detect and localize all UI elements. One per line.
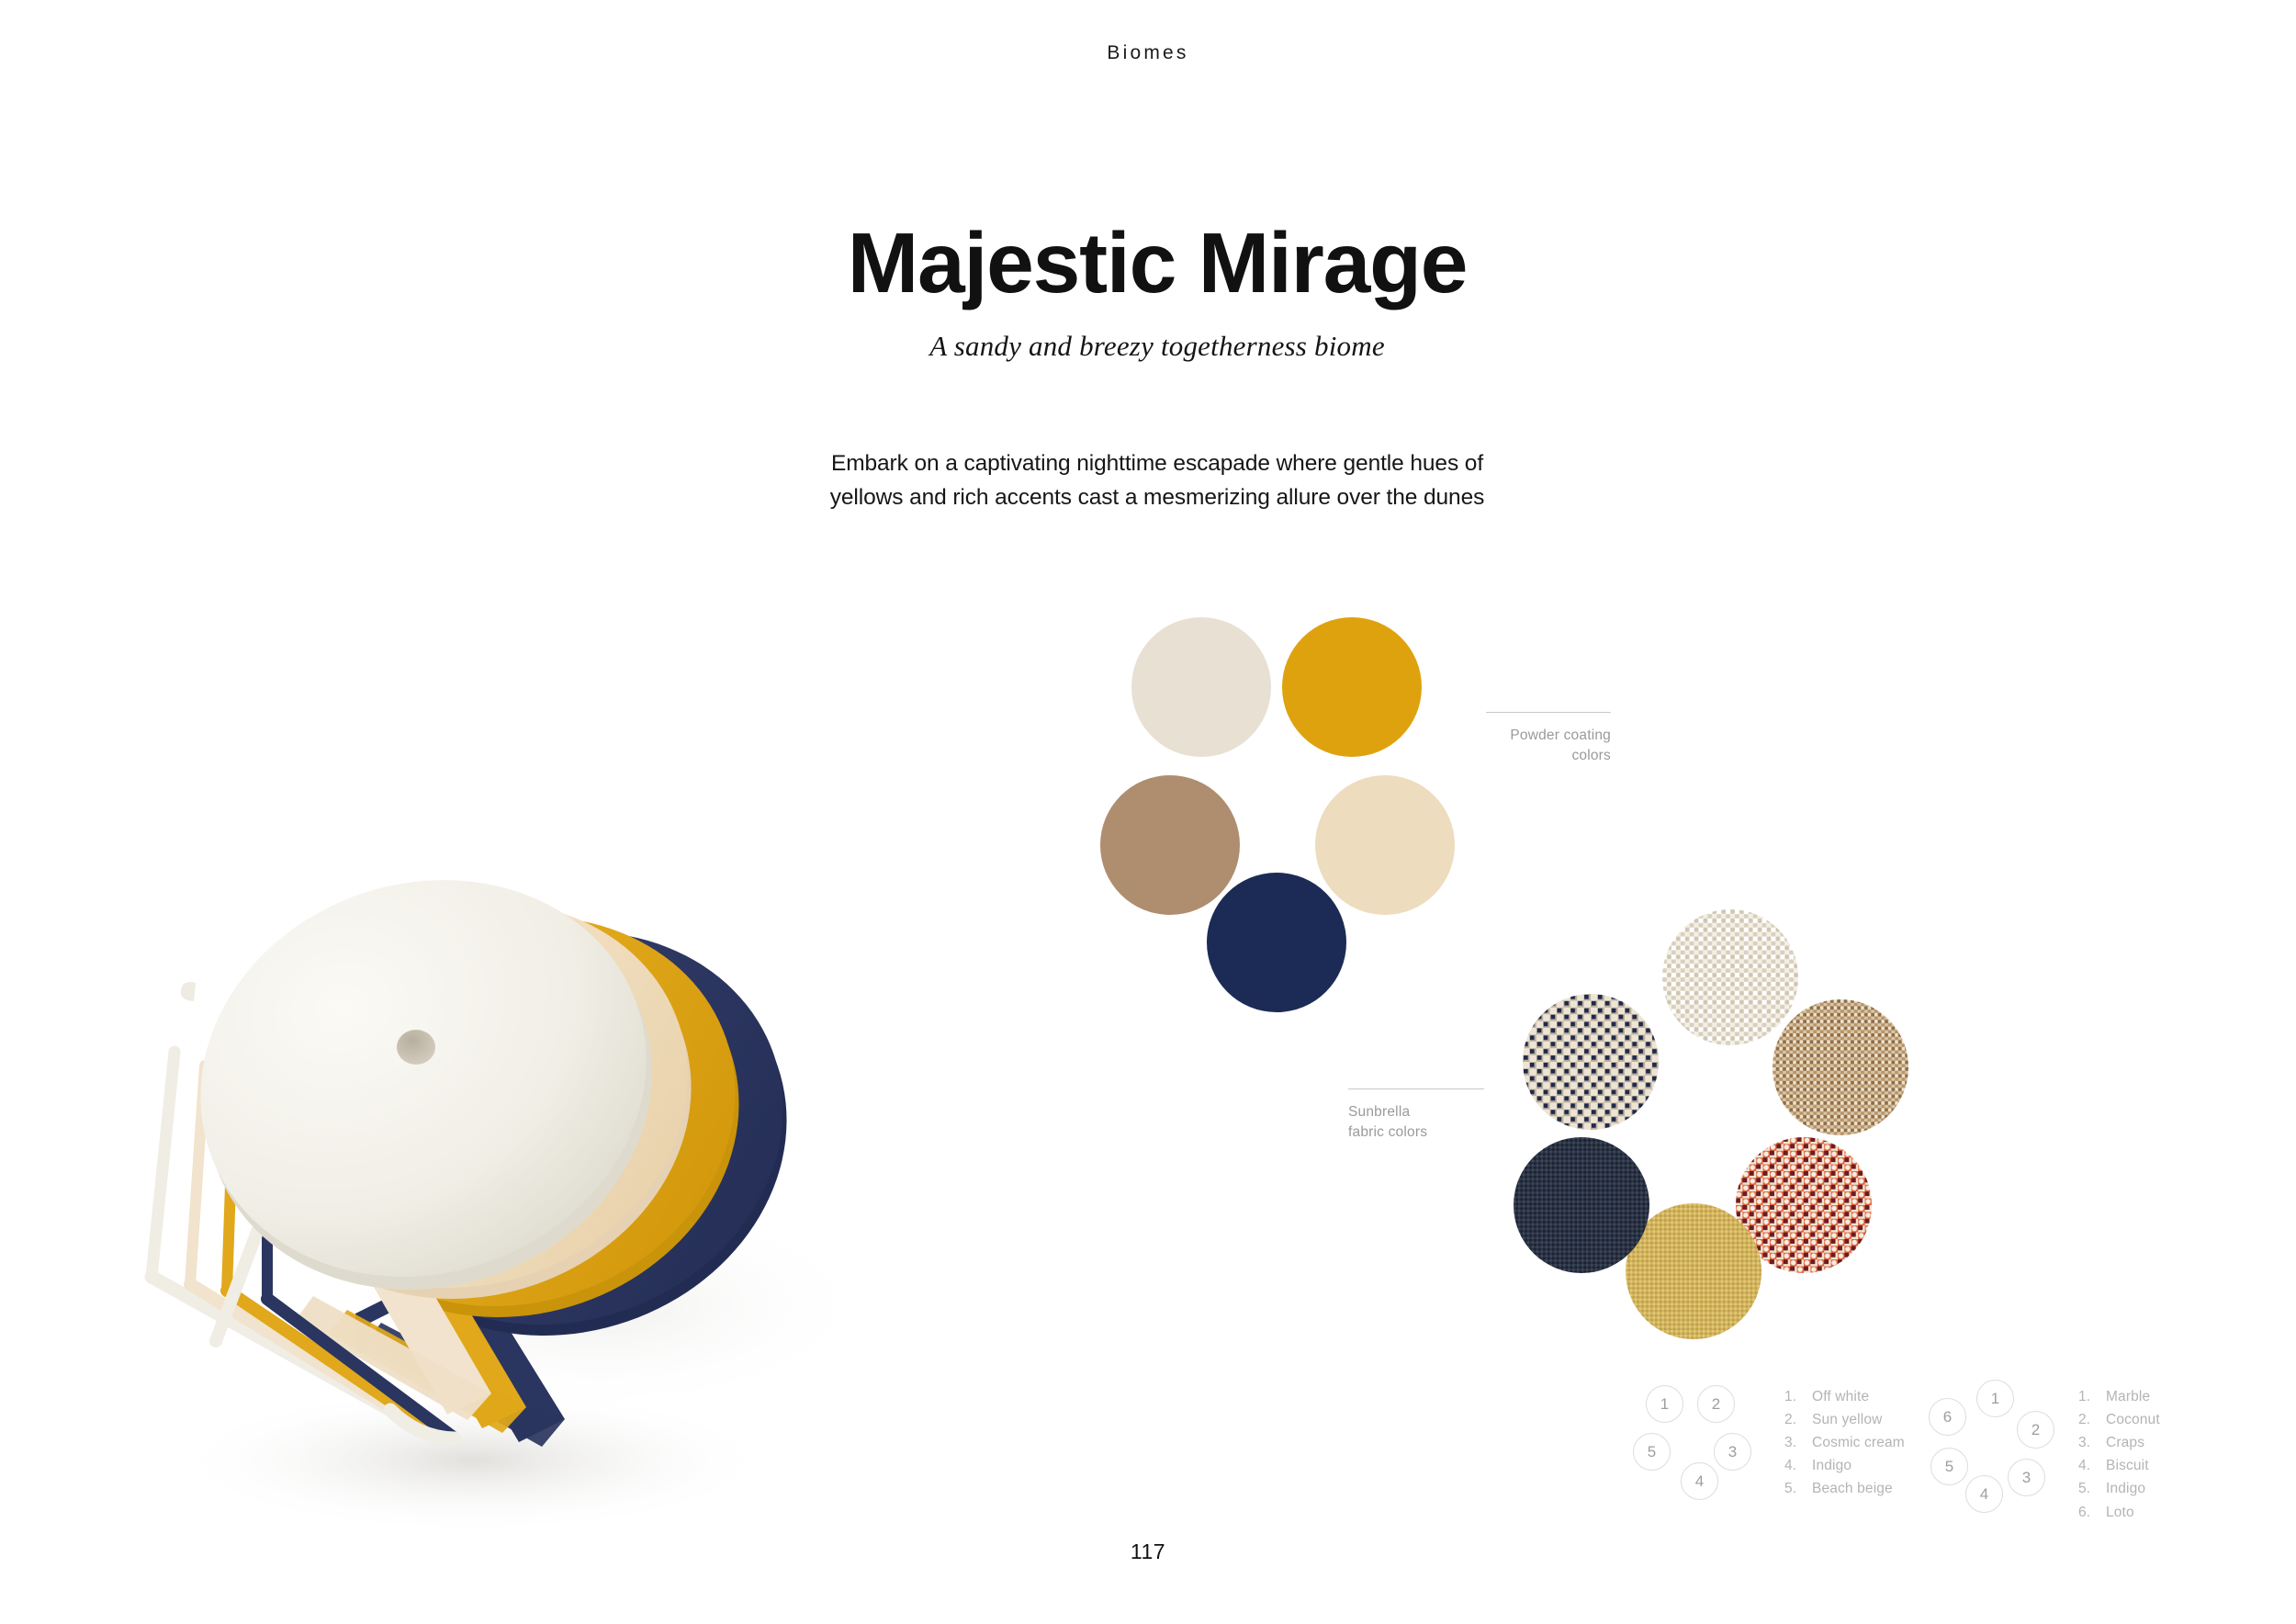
sunbrella-fabric-swatches bbox=[1506, 909, 1947, 1332]
legend-index: 1. bbox=[2078, 1385, 2106, 1408]
legend-label: Indigo bbox=[1812, 1454, 1851, 1477]
powder-swatch-beach-beige[interactable] bbox=[1100, 775, 1240, 915]
page-number: 117 bbox=[0, 1539, 2296, 1564]
legend-label: Beach beige bbox=[1812, 1477, 1893, 1500]
legend-node-4[interactable]: 4 bbox=[1965, 1475, 2003, 1513]
legend-label: Cosmic cream bbox=[1812, 1431, 1905, 1454]
page-subtitle: A sandy and breezy togetherness biome bbox=[790, 330, 1525, 363]
legend-index: 6. bbox=[2078, 1501, 2106, 1524]
powder-legend-diagram: 1 2 3 4 5 bbox=[1644, 1385, 1759, 1500]
legend-label: Coconut bbox=[2106, 1408, 2160, 1431]
legend-node-3[interactable]: 3 bbox=[1714, 1433, 1751, 1471]
fabric-swatch-loto[interactable] bbox=[1523, 994, 1659, 1130]
list-item: 6.Loto bbox=[2078, 1501, 2160, 1524]
legend-label: Sun yellow bbox=[1812, 1408, 1882, 1431]
sunbrella-legend-list: 1.Marble 2.Coconut 3.Craps 4.Biscuit 5.I… bbox=[2078, 1385, 2160, 1524]
legend-index: 4. bbox=[1784, 1454, 1812, 1477]
powder-callout-line1: Powder coating bbox=[1486, 726, 1611, 746]
running-head: Biomes bbox=[0, 42, 2296, 64]
legend-node-4[interactable]: 4 bbox=[1681, 1462, 1718, 1500]
legend-index: 2. bbox=[1784, 1408, 1812, 1431]
legend-node-5[interactable]: 5 bbox=[1930, 1448, 1968, 1485]
sunbrella-legend-diagram: 1 2 3 4 5 6 bbox=[1938, 1385, 2053, 1500]
list-item: 3.Craps bbox=[2078, 1431, 2160, 1454]
intro-paragraph: Embark on a captivating nighttime escapa… bbox=[808, 446, 1506, 515]
powder-swatch-indigo[interactable] bbox=[1207, 873, 1346, 1012]
legend-node-2[interactable]: 2 bbox=[1697, 1385, 1735, 1423]
legend-label: Loto bbox=[2106, 1501, 2134, 1524]
callout-rule bbox=[1348, 1088, 1484, 1089]
title-block: Majestic Mirage A sandy and breezy toget… bbox=[790, 220, 1525, 363]
powder-swatch-cosmic-cream[interactable] bbox=[1315, 775, 1455, 915]
list-item: 4.Indigo bbox=[1784, 1454, 1905, 1477]
powder-swatch-sun-yellow[interactable] bbox=[1282, 617, 1422, 757]
product-photo bbox=[87, 514, 1024, 1571]
powder-coating-swatches bbox=[1120, 617, 1469, 985]
legend-node-1[interactable]: 1 bbox=[1976, 1380, 2014, 1417]
legend-index: 5. bbox=[1784, 1477, 1812, 1500]
legend-node-3[interactable]: 3 bbox=[2008, 1459, 2045, 1496]
callout-rule bbox=[1486, 712, 1611, 713]
list-item: 1.Marble bbox=[2078, 1385, 2160, 1408]
legend-index: 1. bbox=[1784, 1385, 1812, 1408]
page-title: Majestic Mirage bbox=[790, 220, 1525, 306]
legend-index: 5. bbox=[2078, 1477, 2106, 1500]
list-item: 5.Beach beige bbox=[1784, 1477, 1905, 1500]
legend-label: Biscuit bbox=[2106, 1454, 2149, 1477]
legend-index: 4. bbox=[2078, 1454, 2106, 1477]
powder-callout-line2: colors bbox=[1486, 746, 1611, 766]
legend-label: Craps bbox=[2106, 1431, 2144, 1454]
sunbrella-callout: Sunbrella fabric colors bbox=[1348, 1088, 1484, 1144]
list-item: 5.Indigo bbox=[2078, 1477, 2160, 1500]
fabric-swatch-indigo[interactable] bbox=[1514, 1137, 1649, 1273]
sunbrella-legend: 1 2 3 4 5 6 1.Marble 2.Coconut 3.Craps 4… bbox=[1938, 1385, 2160, 1524]
fabric-swatch-coconut[interactable] bbox=[1773, 999, 1908, 1135]
legend-label: Indigo bbox=[2106, 1477, 2145, 1500]
legend-node-5[interactable]: 5 bbox=[1633, 1433, 1671, 1471]
list-item: 1.Off white bbox=[1784, 1385, 1905, 1408]
legend-node-2[interactable]: 2 bbox=[2017, 1411, 2054, 1449]
legend-index: 2. bbox=[2078, 1408, 2106, 1431]
legend-index: 3. bbox=[1784, 1431, 1812, 1454]
legend-node-1[interactable]: 1 bbox=[1646, 1385, 1683, 1423]
powder-legend-list: 1.Off white 2.Sun yellow 3.Cosmic cream … bbox=[1784, 1385, 1905, 1501]
list-item: 2.Sun yellow bbox=[1784, 1408, 1905, 1431]
list-item: 4.Biscuit bbox=[2078, 1454, 2160, 1477]
list-item: 3.Cosmic cream bbox=[1784, 1431, 1905, 1454]
sunbrella-callout-line1: Sunbrella bbox=[1348, 1102, 1484, 1122]
powder-coating-legend: 1 2 3 4 5 1.Off white 2.Sun yellow 3.Cos… bbox=[1644, 1385, 1905, 1501]
legend-label: Marble bbox=[2106, 1385, 2150, 1408]
fabric-swatch-marble[interactable] bbox=[1662, 909, 1798, 1045]
legend-label: Off white bbox=[1812, 1385, 1869, 1408]
legend-node-6[interactable]: 6 bbox=[1929, 1398, 1966, 1436]
list-item: 2.Coconut bbox=[2078, 1408, 2160, 1431]
catalog-page: Biomes Majestic Mirage A sandy and breez… bbox=[0, 0, 2296, 1624]
powder-swatch-off-white[interactable] bbox=[1131, 617, 1271, 757]
sunbrella-callout-line2: fabric colors bbox=[1348, 1122, 1484, 1143]
legend-index: 3. bbox=[2078, 1431, 2106, 1454]
powder-coating-callout: Powder coating colors bbox=[1486, 712, 1611, 767]
